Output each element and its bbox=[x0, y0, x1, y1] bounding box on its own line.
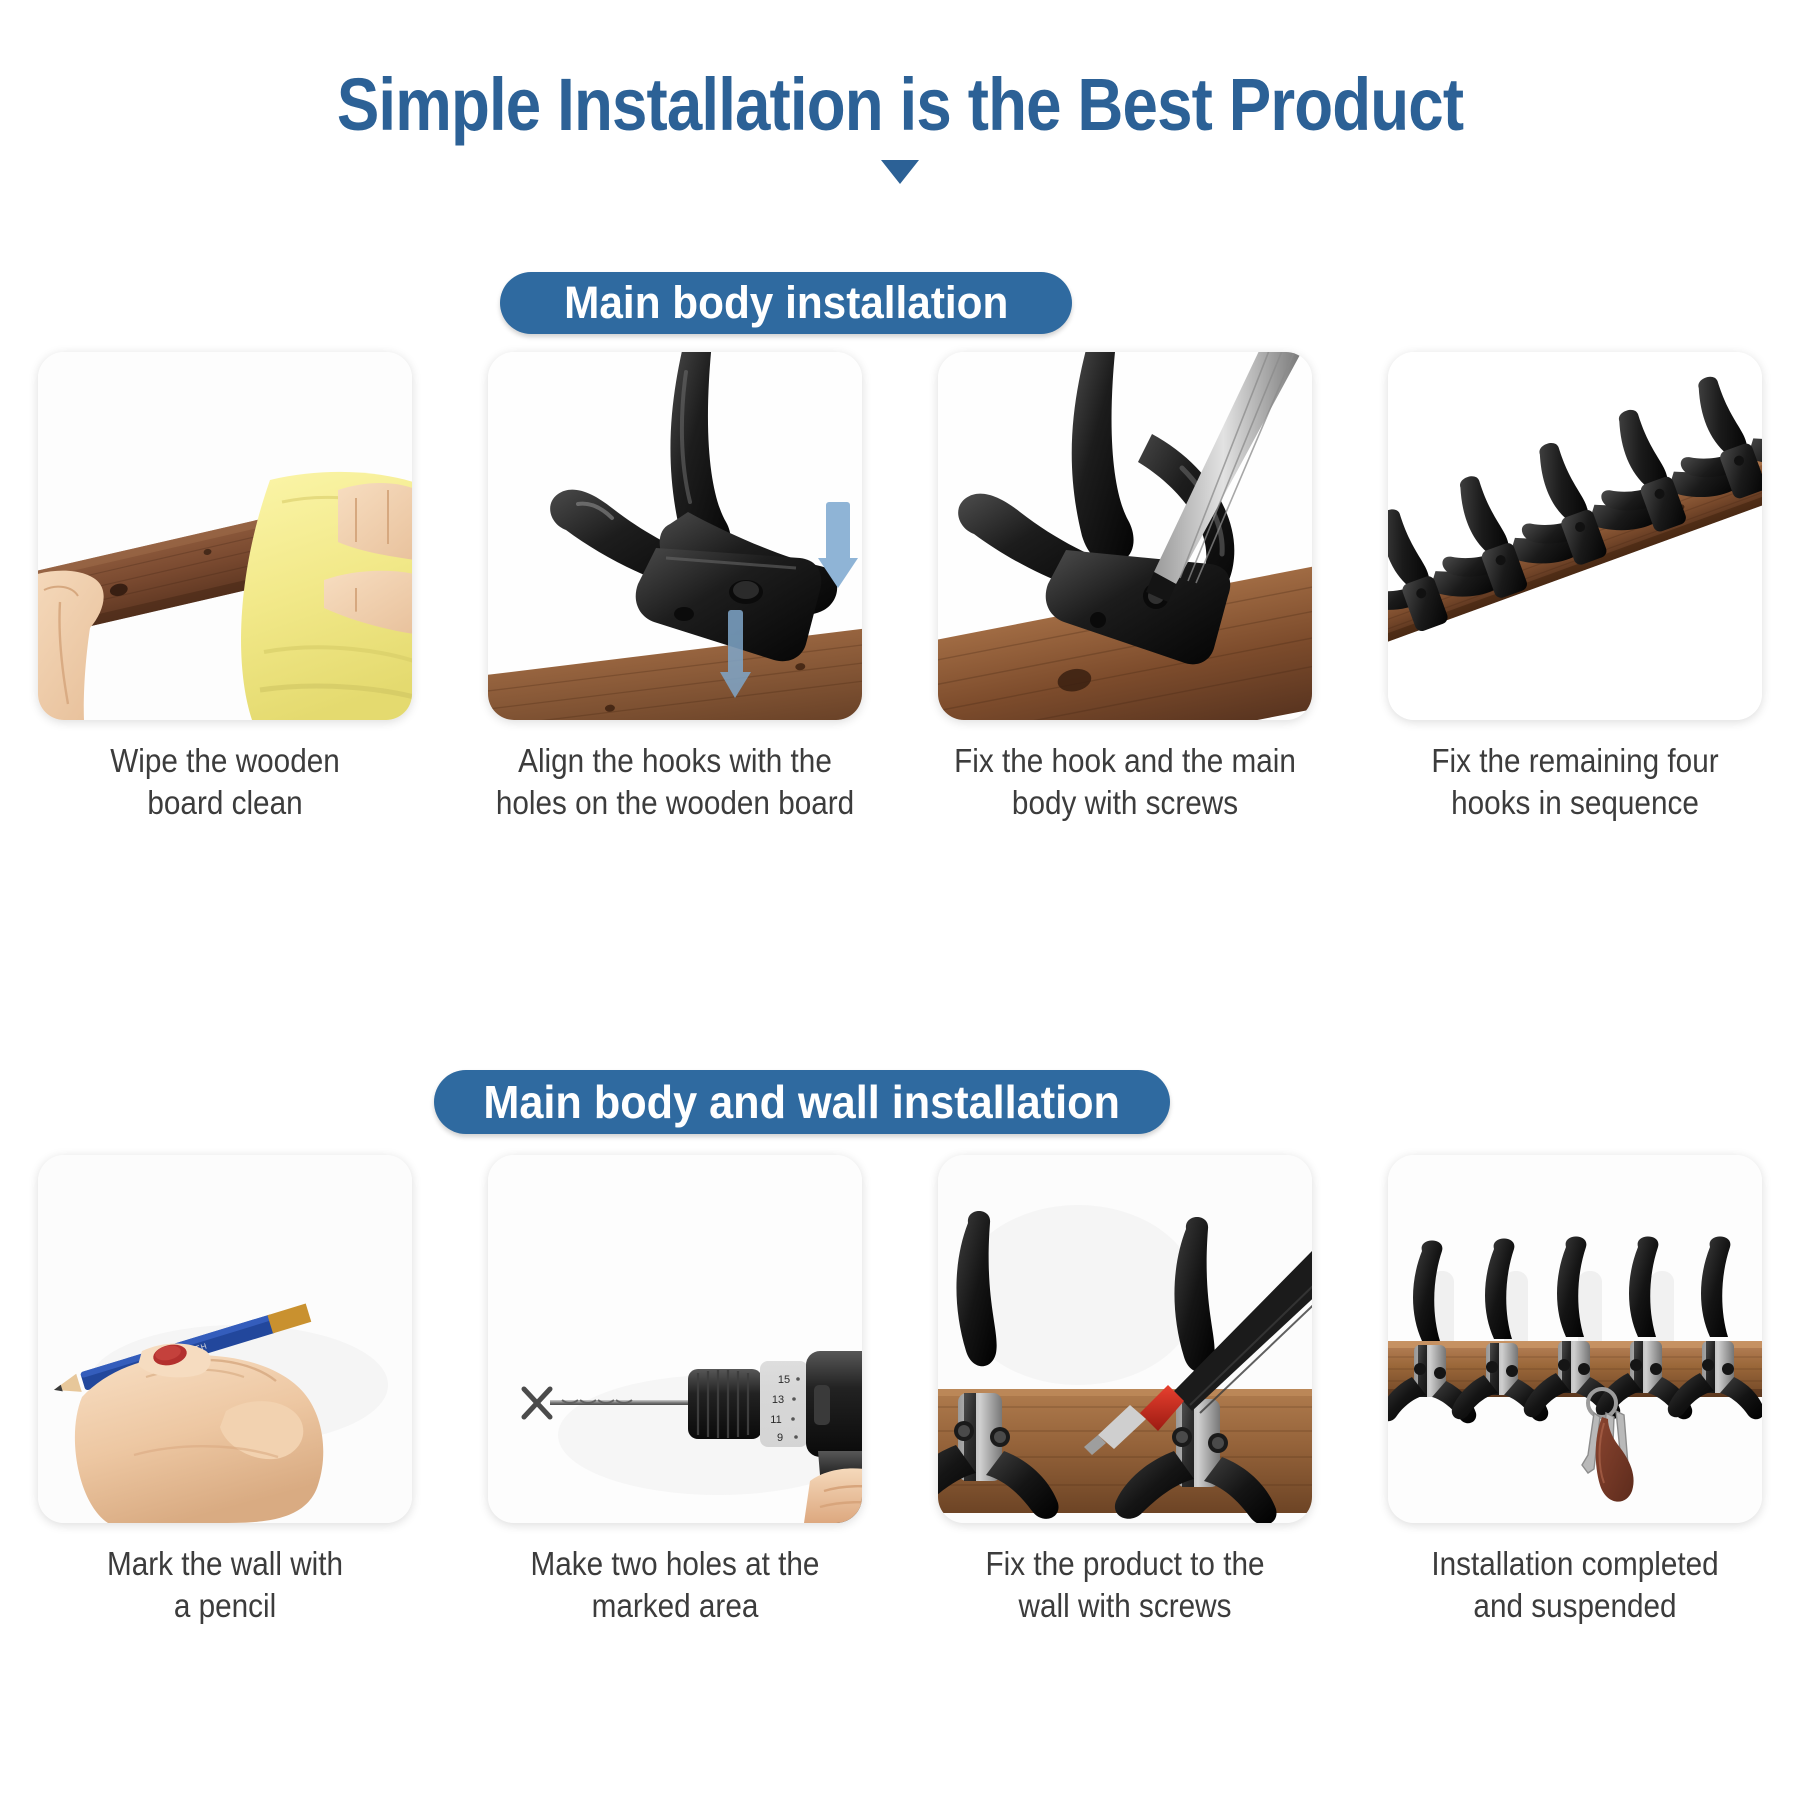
drill-bit bbox=[550, 1400, 690, 1405]
torque-9: 9 bbox=[777, 1432, 783, 1444]
mark-wall-pencil-photo: HARDTMUTH bbox=[38, 1155, 412, 1523]
caption-line-1: Make two holes at the bbox=[495, 1543, 855, 1585]
caption-line-2: wall with screws bbox=[945, 1585, 1305, 1627]
wipe-wooden-board-photo bbox=[38, 352, 412, 720]
section-badge-main-body-installation: Main body installation bbox=[500, 272, 1072, 334]
caption-line-2: and suspended bbox=[1395, 1585, 1755, 1627]
caption-line-2: hooks in sequence bbox=[1395, 782, 1755, 824]
step-caption: Make two holes at the marked area bbox=[495, 1543, 855, 1627]
fix-hook-screws-photo bbox=[938, 352, 1312, 720]
triangle-down-icon bbox=[881, 160, 919, 184]
section-badge-label: Main body and wall installation bbox=[484, 1075, 1121, 1129]
section-badge-label: Main body installation bbox=[564, 277, 1008, 329]
step-card-align-hooks: Align the hooks with the holes on the wo… bbox=[450, 352, 900, 824]
caption-line-1: Installation completed bbox=[1395, 1543, 1755, 1585]
step-card-fix-hook-screws: Fix the hook and the main body with scre… bbox=[900, 352, 1350, 824]
steps-row-main-body: Wipe the wooden board clean bbox=[0, 352, 1800, 824]
torque-15: 15 bbox=[778, 1374, 790, 1386]
caption-line-2: a pencil bbox=[45, 1585, 405, 1627]
drill-holes-photo: 15 13 11 9 bbox=[488, 1155, 862, 1523]
caption-line-2: body with screws bbox=[945, 782, 1305, 824]
torque-11: 11 bbox=[770, 1414, 781, 1426]
page-title: Simple Installation is the Best Product bbox=[126, 62, 1674, 147]
step-card-five-hooks: Fix the remaining four hooks in sequence bbox=[1350, 352, 1800, 824]
caption-line-1: Fix the hook and the main bbox=[945, 740, 1305, 782]
step-card-drill-holes: 15 13 11 9 bbox=[450, 1155, 900, 1627]
step-caption: Align the hooks with the holes on the wo… bbox=[495, 740, 855, 824]
step-caption: Fix the hook and the main body with scre… bbox=[945, 740, 1305, 824]
five-hooks-assembled-photo bbox=[1388, 352, 1762, 720]
caption-line-2: holes on the wooden board bbox=[495, 782, 855, 824]
caption-line-1: Align the hooks with the bbox=[495, 740, 855, 782]
step-caption: Fix the product to the wall with screws bbox=[945, 1543, 1305, 1627]
step-card-installation-complete: Installation completed and suspended bbox=[1350, 1155, 1800, 1627]
fix-product-to-wall-photo bbox=[938, 1155, 1312, 1523]
step-card-wipe-board: Wipe the wooden board clean bbox=[0, 352, 450, 824]
caption-line-2: marked area bbox=[495, 1585, 855, 1627]
caption-line-1: Wipe the wooden bbox=[45, 740, 405, 782]
torque-13: 13 bbox=[772, 1394, 784, 1406]
drill-torque-collar: 15 13 11 9 bbox=[760, 1361, 808, 1447]
caption-line-1: Fix the remaining four bbox=[1395, 740, 1755, 782]
step-caption: Fix the remaining four hooks in sequence bbox=[1395, 740, 1755, 824]
caption-line-2: board clean bbox=[45, 782, 405, 824]
step-card-fix-to-wall: Fix the product to the wall with screws bbox=[900, 1155, 1350, 1627]
installation-complete-photo bbox=[1388, 1155, 1762, 1523]
align-hooks-photo bbox=[488, 352, 862, 720]
caption-line-1: Fix the product to the bbox=[945, 1543, 1305, 1585]
caption-line-1: Mark the wall with bbox=[45, 1543, 405, 1585]
steps-row-wall: HARDTMUTH Mark the wall with bbox=[0, 1155, 1800, 1627]
step-caption: Wipe the wooden board clean bbox=[45, 740, 405, 824]
step-caption: Installation completed and suspended bbox=[1395, 1543, 1755, 1627]
section-badge-main-body-and-wall-installation: Main body and wall installation bbox=[434, 1070, 1170, 1134]
step-caption: Mark the wall with a pencil bbox=[45, 1543, 405, 1627]
step-card-mark-wall: HARDTMUTH Mark the wall with bbox=[0, 1155, 450, 1627]
drill-chuck bbox=[688, 1369, 762, 1439]
